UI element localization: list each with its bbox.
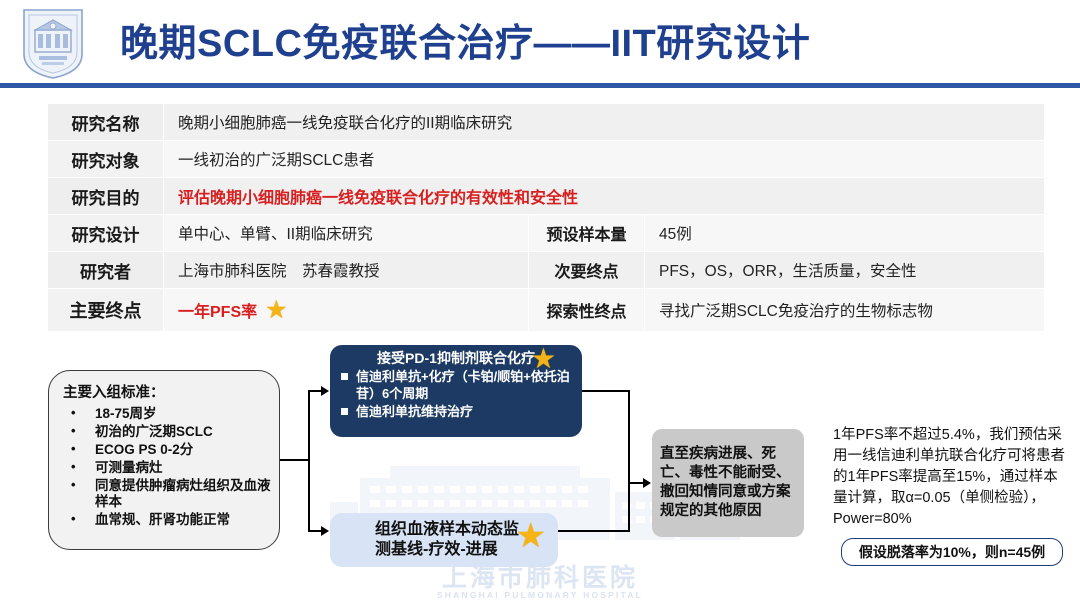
monitoring-line-1: 组织血液样本动态监: [375, 521, 519, 538]
list-item: 同意提供肿瘤病灶组织及血液样本: [63, 478, 271, 511]
sample-monitoring-box: 组织血液样本动态监 测基线-疗效-进展 ★: [330, 513, 558, 567]
row-value: 单中心、单臂、II期临床研究: [164, 215, 528, 251]
treatment-box: 接受PD-1抑制剂联合化疗 ★ 信迪利单抗+化疗（卡铂/顺铂+依托泊苷）6个周期…: [330, 345, 582, 437]
connector-line-vertical: [308, 390, 310, 532]
row-value: 晚期小细胞肺癌一线免疫联合化疗的II期临床研究: [164, 104, 1044, 140]
row-label: 研究对象: [48, 141, 163, 177]
table-row: 研究设计 单中心、单臂、II期临床研究 预设样本量 45例: [48, 215, 1044, 251]
list-item: ECOG PS 0-2分: [63, 442, 271, 458]
star-icon: ★: [516, 519, 546, 553]
list-item: 18-75周岁: [63, 406, 271, 422]
row-value-secondary: 45例: [645, 215, 1044, 251]
arrow-icon-to-stop: [643, 478, 651, 488]
connector-line-treatment-out: [582, 390, 630, 392]
primary-endpoint-text: 一年PFS率: [178, 298, 257, 322]
table-row: 主要终点 一年PFS率 ★ 探索性终点 寻找广泛期SCLC免疫治疗的生物标志物: [48, 289, 1044, 331]
row-value: 一线初治的广泛期SCLC患者: [164, 141, 1044, 177]
row-label: 主要终点: [48, 289, 163, 331]
row-label-secondary: 次要终点: [529, 252, 644, 288]
row-label: 研究名称: [48, 104, 163, 140]
arrow-icon-to-monitor: [321, 526, 329, 536]
connector-line-bottom-branch: [308, 530, 322, 532]
treatment-title-text: 接受PD-1抑制剂联合化疗: [377, 350, 535, 366]
row-value-secondary: 寻找广泛期SCLC免疫治疗的生物标志物: [645, 289, 1044, 331]
list-item: 信迪利单抗+化疗（卡铂/顺铂+依托泊苷）6个周期: [340, 369, 572, 401]
connector-line-to-stop: [628, 482, 644, 484]
dropout-assumption-text: 假设脱落率为10%，则n=45例: [859, 542, 1045, 562]
connector-line-merge-vertical: [628, 390, 630, 532]
stop-criteria-text: 直至疾病进展、死亡、毒性不能耐受、撤回知情同意或方案规定的其他原因: [660, 445, 796, 520]
inclusion-criteria-title: 主要入组标准：: [63, 381, 271, 402]
table-row: 研究名称 晚期小细胞肺癌一线免疫联合化疗的II期临床研究: [48, 104, 1044, 140]
table-row: 研究者 上海市肺科医院 苏春霞教授 次要终点 PFS，OS，ORR，生活质量，安…: [48, 252, 1044, 288]
treatment-title: 接受PD-1抑制剂联合化疗 ★: [340, 351, 572, 366]
dropout-assumption-box: 假设脱落率为10%，则n=45例: [841, 538, 1063, 566]
row-value: 上海市肺科医院 苏春霞教授: [164, 252, 528, 288]
hospital-crest-logo: [18, 6, 88, 80]
star-icon: ★: [265, 298, 287, 323]
slide-root: 上海市肺科医院 SHANGHAI PULMONARY HOSPITAL 晚期SC…: [0, 0, 1080, 607]
connector-line-monitor-out: [558, 530, 630, 532]
treatment-list: 信迪利单抗+化疗（卡铂/顺铂+依托泊苷）6个周期 信迪利单抗维持治疗: [340, 369, 572, 419]
connector-line-out: [280, 459, 310, 461]
row-label-secondary: 探索性终点: [529, 289, 644, 331]
monitoring-line-2: 测基线-疗效-进展: [375, 541, 498, 558]
header-divider: [0, 83, 1080, 88]
list-item: 血常规、肝肾功能正常: [63, 512, 271, 528]
study-info-table: 研究名称 晚期小细胞肺癌一线免疫联合化疗的II期临床研究 研究对象 一线初治的广…: [48, 104, 1044, 331]
row-value-secondary: PFS，OS，ORR，生活质量，安全性: [645, 252, 1044, 288]
connector-line-top-branch: [308, 390, 322, 392]
stop-criteria-box: 直至疾病进展、死亡、毒性不能耐受、撤回知情同意或方案规定的其他原因: [652, 429, 804, 537]
monitoring-text: 组织血液样本动态监 测基线-疗效-进展: [369, 520, 519, 559]
list-item: 信迪利单抗维持治疗: [340, 404, 572, 420]
list-item: 可测量病灶: [63, 460, 271, 476]
inclusion-criteria-box: 主要入组标准： 18-75周岁 初治的广泛期SCLC ECOG PS 0-2分 …: [48, 370, 280, 550]
table-row: 研究目的 评估晚期小细胞肺癌一线免疫联合化疗的有效性和安全性: [48, 178, 1044, 214]
row-value-primary-endpoint: 一年PFS率 ★: [164, 289, 528, 331]
row-label: 研究目的: [48, 178, 163, 214]
arrow-icon-to-treatment: [321, 386, 329, 396]
page-title: 晚期SCLC免疫联合治疗——IIT研究设计: [120, 12, 810, 67]
row-label: 研究者: [48, 252, 163, 288]
row-label-secondary: 预设样本量: [529, 215, 644, 251]
row-label: 研究设计: [48, 215, 163, 251]
table-row: 研究对象 一线初治的广泛期SCLC患者: [48, 141, 1044, 177]
list-item: 初治的广泛期SCLC: [63, 424, 271, 440]
inclusion-criteria-list: 18-75周岁 初治的广泛期SCLC ECOG PS 0-2分 可测量病灶 同意…: [63, 406, 271, 529]
sample-size-rationale-text: 1年PFS率不超过5.4%，我们预估采用一线信迪利单抗联合化疗可将患者的1年PF…: [833, 425, 1071, 530]
row-value-highlight: 评估晚期小细胞肺癌一线免疫联合化疗的有效性和安全性: [164, 178, 1044, 214]
